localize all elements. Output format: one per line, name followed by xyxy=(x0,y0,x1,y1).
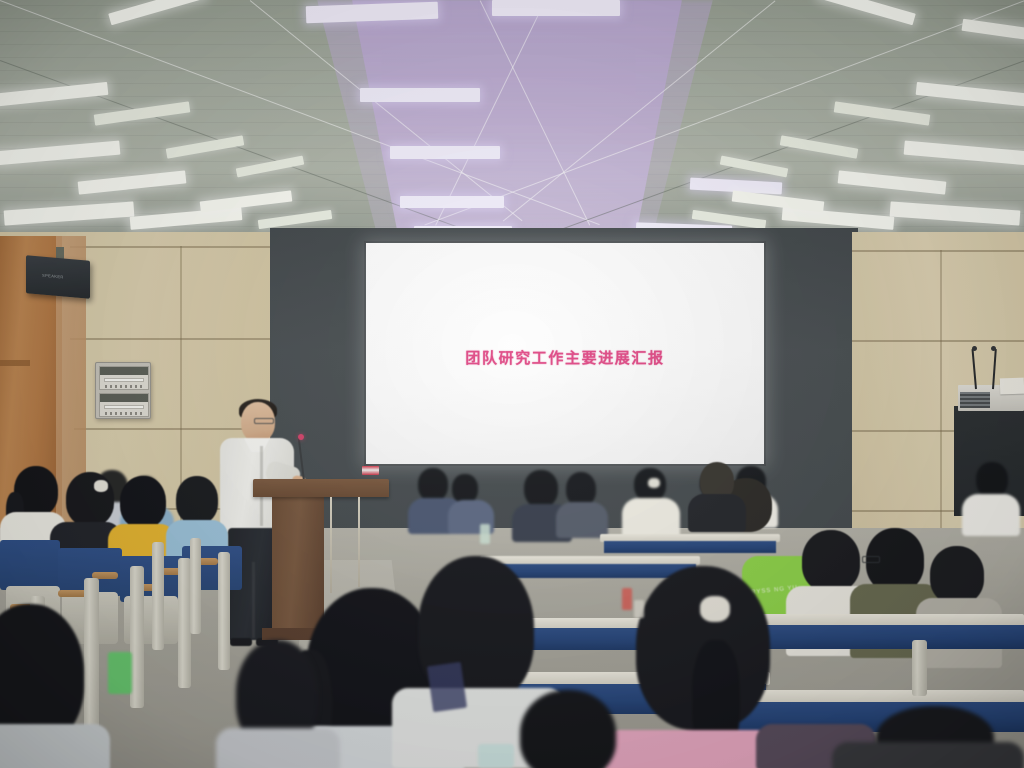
side-microphone-head xyxy=(991,346,996,351)
ceiling-light xyxy=(390,146,500,159)
bottle-cap xyxy=(622,588,632,610)
water-bottle xyxy=(478,744,514,768)
lecture-hall-photo: SPEAKER 团队研究工作主要进展汇报 xyxy=(0,0,1024,768)
presenter-glasses xyxy=(254,418,274,424)
projection-screen: 团队研究工作主要进展汇报 xyxy=(366,243,764,464)
side-microphone-head xyxy=(972,346,977,351)
student-head xyxy=(120,476,166,528)
podium-cable xyxy=(358,497,360,587)
speaker-brand-label: SPEAKER xyxy=(42,273,64,280)
podium-microphone-tip xyxy=(298,434,304,440)
attendee-head xyxy=(930,546,984,604)
side-desk-grille xyxy=(960,392,990,408)
ceiling xyxy=(0,0,1024,240)
podium-cable xyxy=(330,497,332,593)
student-head xyxy=(66,472,114,526)
side-desk-papers xyxy=(1000,378,1024,395)
podium-badge xyxy=(362,466,379,475)
podium-top xyxy=(253,479,389,497)
ceiling-light xyxy=(492,0,620,16)
presenter-trouser-seam xyxy=(252,562,255,638)
water-bottle xyxy=(480,524,490,544)
ceiling-light xyxy=(360,88,480,102)
podium-body xyxy=(272,495,324,635)
attendee-head xyxy=(802,530,860,592)
notebook xyxy=(427,662,467,712)
green-bag xyxy=(108,652,132,694)
water-bottle xyxy=(634,600,644,618)
wall-control-panel[interactable] xyxy=(95,362,151,419)
wood-trim xyxy=(0,360,30,366)
wall-speaker: SPEAKER xyxy=(26,255,90,299)
attendee-dark-top xyxy=(688,494,746,532)
presenter-shoe xyxy=(230,638,252,646)
ceiling-light xyxy=(400,196,504,208)
student-head xyxy=(176,476,218,524)
slide-title: 团队研究工作主要进展汇报 xyxy=(465,347,664,368)
